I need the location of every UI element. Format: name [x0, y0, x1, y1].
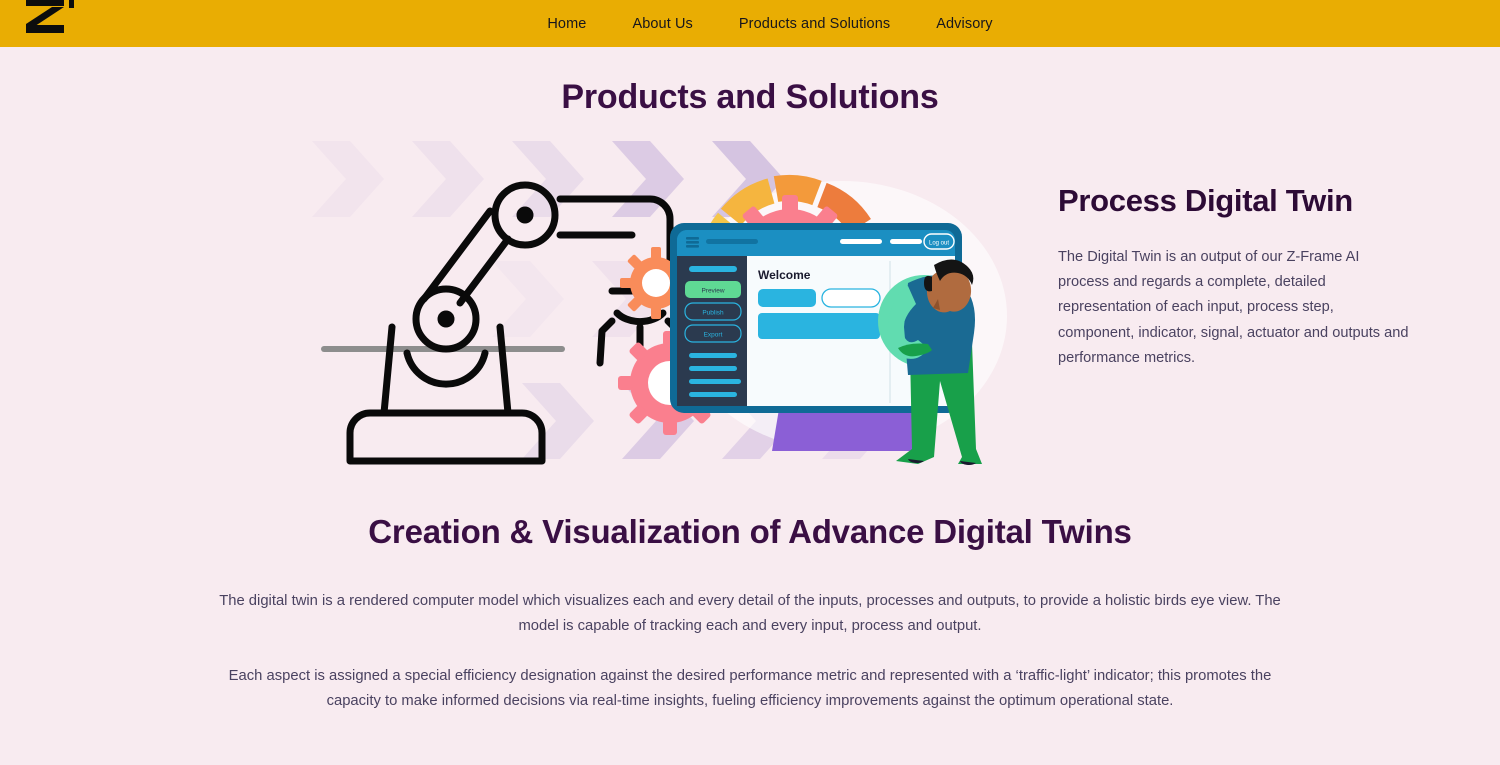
- page-content: Products and Solutions: [0, 47, 1500, 765]
- dashboard-welcome-label: Welcome: [758, 268, 811, 282]
- main-nav: Home About Us Products and Solutions Adv…: [547, 16, 992, 32]
- hero-section: Log out Preview Publish Export: [0, 131, 1500, 491]
- hero-body-text: The Digital Twin is an output of our Z-F…: [1058, 245, 1410, 371]
- process-digital-twin-illustration: Log out Preview Publish Export: [312, 131, 1042, 481]
- nav-item-advisory[interactable]: Advisory: [936, 16, 992, 32]
- hero-text-block: Process Digital Twin The Digital Twin is…: [1058, 179, 1410, 371]
- site-header: Home About Us Products and Solutions Adv…: [0, 0, 1500, 47]
- bottom-section-title: Creation & Visualization of Advance Digi…: [0, 513, 1500, 551]
- page-title: Products and Solutions: [0, 47, 1500, 117]
- bottom-paragraph-2: Each aspect is assigned a special effici…: [215, 664, 1285, 715]
- dashboard-export-label: Export: [704, 332, 723, 339]
- bottom-section: Creation & Visualization of Advance Digi…: [0, 513, 1500, 715]
- z-frame-logo[interactable]: [18, 0, 80, 42]
- nav-item-home[interactable]: Home: [547, 16, 586, 32]
- dashboard-preview-label: Preview: [701, 288, 724, 295]
- hamburger-menu-icon: [686, 237, 699, 248]
- dashboard-logout-label: Log out: [929, 241, 949, 247]
- nav-item-products-and-solutions[interactable]: Products and Solutions: [739, 16, 890, 32]
- bottom-paragraph-1: The digital twin is a rendered computer …: [215, 589, 1285, 640]
- bottom-section-body: The digital twin is a rendered computer …: [215, 589, 1285, 715]
- hero-heading: Process Digital Twin: [1058, 179, 1410, 223]
- nav-item-about-us[interactable]: About Us: [632, 16, 692, 32]
- dashboard-publish-label: Publish: [702, 310, 724, 317]
- robot-arm-icon: [324, 185, 680, 461]
